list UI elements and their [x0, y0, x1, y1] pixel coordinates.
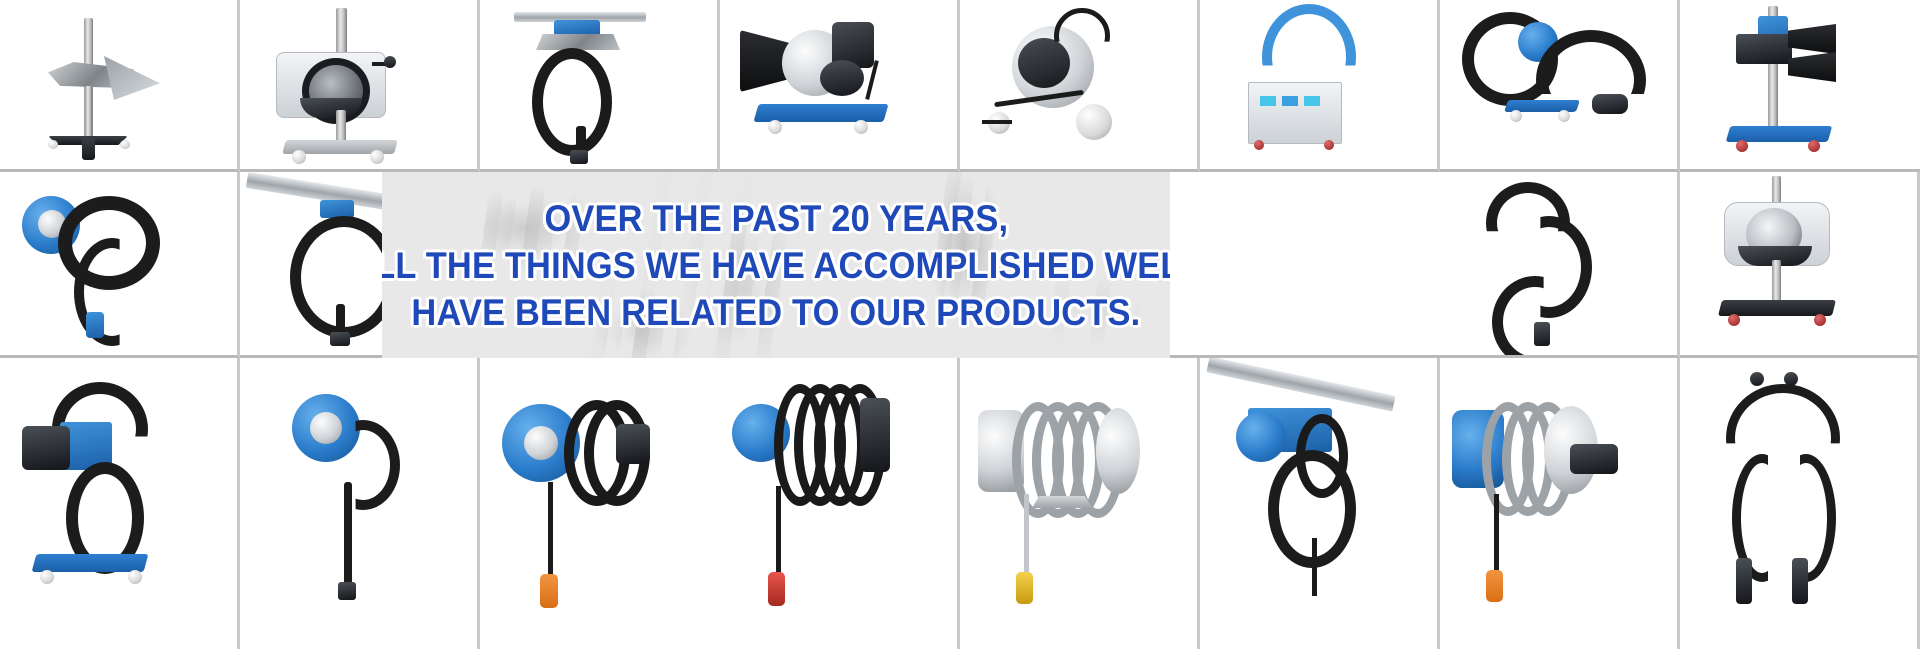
- banner-text-block: OVER THE PAST 20 YEARS, ALL THE THINGS W…: [382, 172, 1170, 358]
- product-cell-coiled-black-hose-reel-assembly[interactable]: [720, 358, 960, 649]
- product-cell-blue-hose-reel-wall-mounted[interactable]: [0, 172, 240, 358]
- product-image: [0, 172, 237, 355]
- product-image: [1200, 0, 1437, 169]
- product-cell-grey-hose-reel-with-blue-drum[interactable]: [1440, 358, 1680, 649]
- product-image: [1440, 172, 1677, 355]
- product-cell-hose-reel-blower-trolley-with-wheels[interactable]: [960, 0, 1200, 172]
- product-image: [0, 358, 237, 649]
- product-image: [960, 358, 1197, 649]
- product-image: [240, 0, 477, 169]
- product-image: [240, 358, 477, 649]
- product-image: [1440, 0, 1677, 169]
- banner-stage: OVER THE PAST 20 YEARS, ALL THE THINGS W…: [0, 0, 1920, 649]
- banner-line-1: OVER THE PAST 20 YEARS,: [544, 196, 1008, 241]
- promo-banner: OVER THE PAST 20 YEARS, ALL THE THINGS W…: [382, 172, 1170, 358]
- product-image: [720, 358, 957, 649]
- product-cell-rail-mounted-blue-hose-reel[interactable]: [1200, 358, 1440, 649]
- product-cell-mobile-fume-extractor-cabinet[interactable]: [1200, 0, 1440, 172]
- product-image: [960, 0, 1197, 169]
- product-cell-overhead-rail-mounted-extraction-arm[interactable]: [480, 0, 720, 172]
- product-image: [1680, 0, 1920, 169]
- product-image: [1200, 358, 1437, 649]
- product-cell-grey-coiled-hose-reel-on-bracket[interactable]: [960, 358, 1200, 649]
- product-cell-compact-blue-hose-reel[interactable]: [240, 358, 480, 649]
- product-cell-portable-fume-extractor-blue-base[interactable]: [0, 358, 240, 649]
- banner-line-3: HAVE BEEN RELATED TO OUR PRODUCTS.: [411, 290, 1140, 335]
- product-cell-telescopic-exhaust-nozzle-on-tripod[interactable]: [0, 0, 240, 172]
- product-cell-centrifugal-blower-on-blue-cart[interactable]: [720, 0, 960, 172]
- product-image: [1440, 358, 1677, 649]
- banner-line-2: ALL THE THINGS WE HAVE ACCOMPLISHED WELL: [382, 243, 1170, 288]
- product-cell-box-fan-extractor-on-mobile-stand[interactable]: [240, 0, 480, 172]
- product-image: [0, 0, 237, 169]
- product-cell-flexible-extraction-arm-black-hose[interactable]: [1440, 172, 1680, 358]
- product-cell-round-hood-extractor-on-dark-base[interactable]: [1680, 172, 1920, 358]
- product-image: [720, 0, 957, 169]
- product-cell-dual-arm-extraction-unit-blue-base[interactable]: [1440, 0, 1680, 172]
- product-cell-blue-hose-reel-with-black-hose[interactable]: [480, 358, 720, 649]
- product-image: [1680, 172, 1917, 355]
- product-cell-twin-cone-exhaust-extractor-on-stand[interactable]: [1680, 0, 1920, 172]
- product-cell-black-flexible-twin-hose-assembly[interactable]: [1680, 358, 1920, 649]
- product-image: [480, 0, 717, 169]
- product-image: [1680, 358, 1917, 649]
- product-image: [480, 358, 720, 649]
